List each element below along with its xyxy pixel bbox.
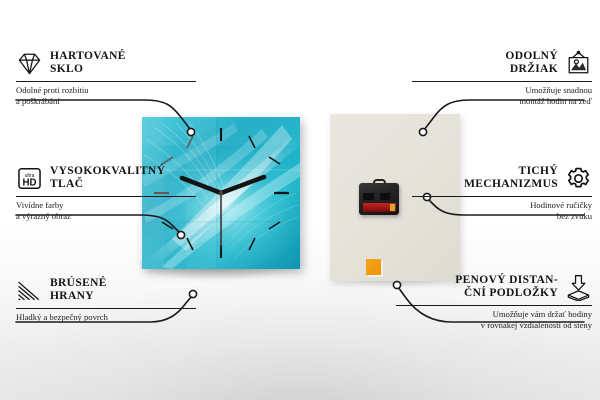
mechanism-body <box>359 183 399 215</box>
feature-description: Odolné proti rozbitiu a poškrábání <box>16 85 196 106</box>
feature-heading: PENOVÝ DISTAN- ČNÍ PODLOŽKY <box>396 272 592 302</box>
battery <box>363 203 396 212</box>
battery-positive-terminal <box>390 204 395 211</box>
feature-description: Hladký a bezpečný povrch <box>16 312 196 323</box>
feature-title: BRÚSENÉ HRANY <box>50 277 107 304</box>
clock-mechanism <box>359 179 399 215</box>
feature-heading: ultra HD VYSOKOKVALITNÝ TLAČ <box>16 163 196 193</box>
feature-divider <box>412 81 592 82</box>
product-infographic: HARTOVANÉ SKLO Odolné proti rozbitiu a p… <box>0 0 600 400</box>
feature-silent-mechanism: TICHÝ MECHANIZMUS Hodinové ručičky bez z… <box>412 163 592 221</box>
feature-title: TICHÝ MECHANIZMUS <box>464 165 558 192</box>
hatched-edge-icon <box>16 277 43 304</box>
feature-heading: ODOLNÝ DRŽIAK <box>412 48 592 78</box>
feature-description: Hodinové ručičky bez zvuku <box>412 200 592 221</box>
feature-durable-holder: ODOLNÝ DRŽIAK Umožňuje snadnou montáž ho… <box>412 48 592 106</box>
feature-divider <box>412 196 592 197</box>
feature-description: Vivídne farby a výrazný obraz <box>16 200 196 221</box>
feature-title: HARTOVANÉ SKLO <box>50 50 126 77</box>
feature-heading: TICHÝ MECHANIZMUS <box>412 163 592 193</box>
gear-icon <box>565 165 592 192</box>
feature-divider <box>16 81 196 82</box>
mechanism-slot-right <box>380 193 390 200</box>
feature-divider <box>396 305 592 306</box>
feature-description: Umožňuje vám držať hodiny v rovnakej vzd… <box>396 309 592 330</box>
mechanism-slot-left <box>363 193 374 200</box>
feature-title: PENOVÝ DISTAN- ČNÍ PODLOŽKY <box>455 274 558 301</box>
feature-heading: HARTOVANÉ SKLO <box>16 48 196 78</box>
ultra-hd-icon: ultra HD <box>16 165 43 192</box>
feature-high-quality-print: ultra HD VYSOKOKVALITNÝ TLAČ Vivídne far… <box>16 163 196 221</box>
diamond-icon <box>16 50 43 77</box>
feature-title: VYSOKOKVALITNÝ TLAČ <box>50 165 165 192</box>
feature-hardened-glass: HARTOVANÉ SKLO Odolné proti rozbitiu a p… <box>16 48 196 106</box>
feature-foam-spacers: PENOVÝ DISTAN- ČNÍ PODLOŽKY Umožňuje vám… <box>396 272 592 330</box>
press-down-pad-icon <box>565 274 592 301</box>
feature-title: ODOLNÝ DRŽIAK <box>505 50 558 77</box>
hanging-frame-icon <box>565 50 592 77</box>
feature-divider <box>16 308 196 309</box>
feature-description: Umožňuje snadnou montáž hodin na zeď <box>412 85 592 106</box>
feature-divider <box>16 196 196 197</box>
svg-text:HD: HD <box>23 177 37 188</box>
feature-ground-edges: BRÚSENÉ HRANY Hladký a bezpečný povrch <box>16 275 196 323</box>
foam-spacer-pad <box>366 259 381 275</box>
feature-heading: BRÚSENÉ HRANY <box>16 275 196 305</box>
